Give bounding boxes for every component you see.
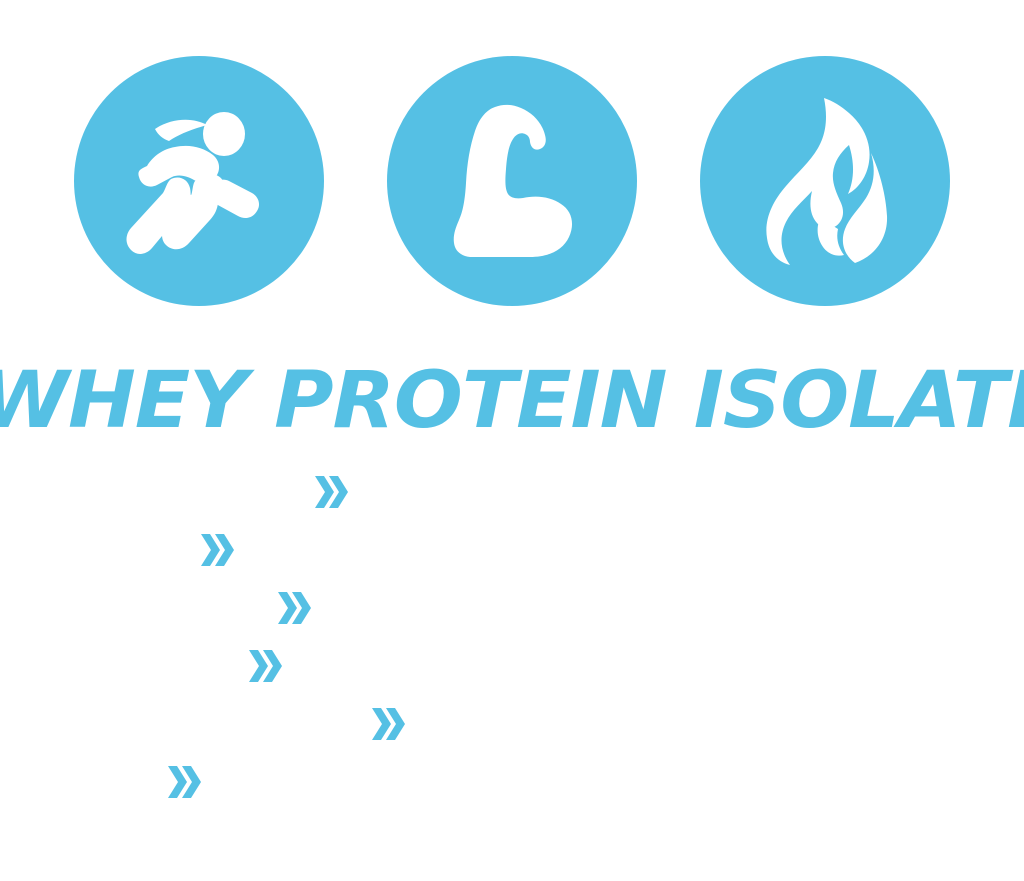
list-item: BURN FAT†: [0, 694, 1024, 752]
benefit-label: IMPROVE PERFORMANCE†: [236, 527, 741, 572]
flexed-bicep-icon: [437, 101, 587, 261]
flame-icon: [750, 96, 900, 266]
list-item: IMPROVE PERFORMANCE†: [0, 520, 1024, 578]
benefit-label: SUPPORTS IMMUNE SYSTEM†: [203, 759, 765, 804]
benefit-label: BUILD LEAN MUSCLE†: [284, 643, 706, 688]
page-title: WHEY PROTEIN ISOLATE: [0, 358, 1024, 444]
double-chevron-icon: [249, 650, 283, 682]
list-item: SUPPORTS IMMUNE SYSTEM†: [0, 752, 1024, 810]
list-item: BUILD LEAN MUSCLE†: [0, 636, 1024, 694]
benefit-label: BURN FAT†: [407, 701, 617, 746]
feature-icon-row: [0, 56, 1024, 306]
benefit-list: 10G PER SCOOP IMPROVE PERFORMANCE† SPEED…: [0, 462, 1024, 810]
double-chevron-icon: [372, 708, 406, 740]
benefit-label: 10G PER SCOOP: [350, 469, 658, 514]
double-chevron-icon: [201, 534, 235, 566]
double-chevron-icon: [278, 592, 312, 624]
benefit-label: SPEED RECOVERY†: [313, 585, 686, 630]
running-person-icon: [119, 101, 279, 261]
icon-badge-flame: [700, 56, 950, 306]
icon-badge-bicep: [387, 56, 637, 306]
double-chevron-icon: [315, 476, 349, 508]
icon-badge-running: [74, 56, 324, 306]
list-item: 10G PER SCOOP: [0, 462, 1024, 520]
double-chevron-icon: [168, 766, 202, 798]
list-item: SPEED RECOVERY†: [0, 578, 1024, 636]
